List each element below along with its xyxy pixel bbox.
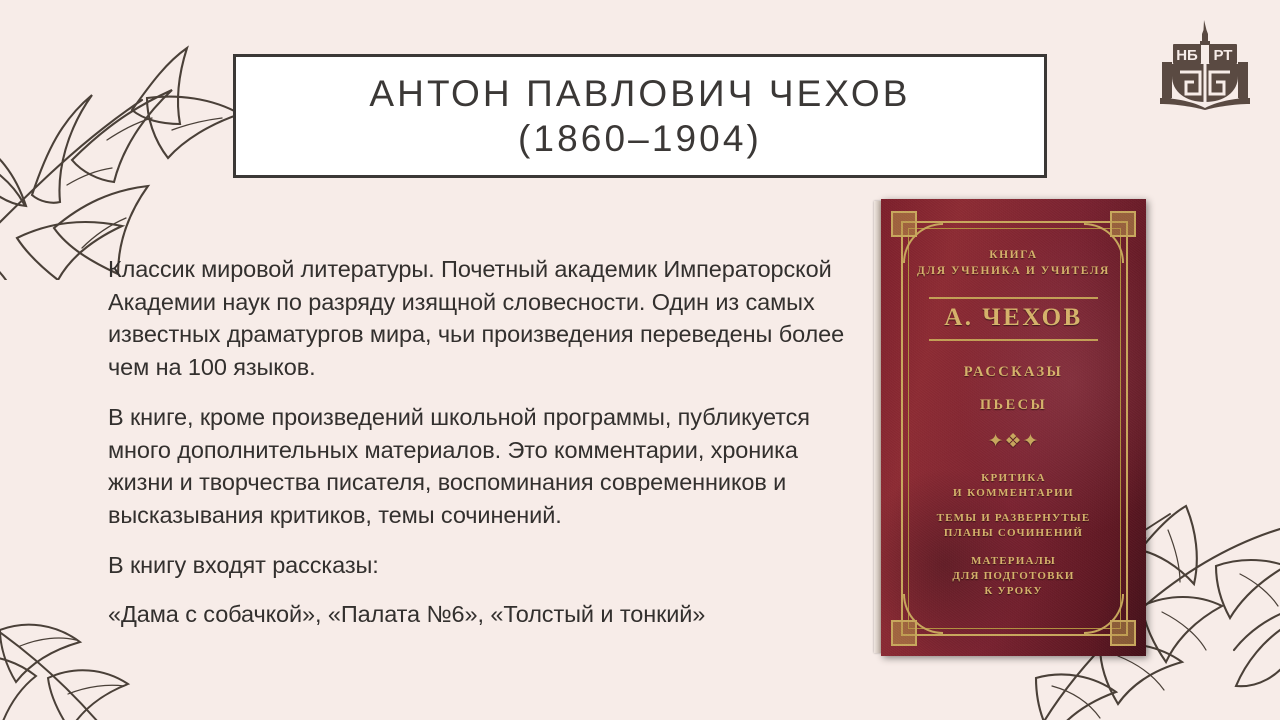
slide: НБ РТ АНТОН ПАВЛОВИЧ ЧЕХОВ (1860–1904) К… — [0, 0, 1280, 720]
cover-corner-square-tr — [1110, 211, 1136, 237]
cover-section-materials: МАТЕРИАЛЫ ДЛЯ ПОДГОТОВКИ К УРОКУ — [881, 554, 1146, 599]
cover-rule-bottom — [929, 339, 1098, 341]
cover-section-criticism-line1: КРИТИКА — [881, 471, 1146, 486]
cover-section-criticism-line2: И КОММЕНТАРИИ — [881, 486, 1146, 501]
cover-section-criticism: КРИТИКА И КОММЕНТАРИИ — [881, 471, 1146, 501]
cover-series-line1: КНИГА — [881, 247, 1146, 263]
page-title: АНТОН ПАВЛОВИЧ ЧЕХОВ (1860–1904) — [233, 54, 1047, 178]
cover-author: А. ЧЕХОВ — [881, 299, 1146, 337]
cover-ornament: ✦❖✦ — [881, 432, 1146, 451]
cover-section-materials-line2: ДЛЯ ПОДГОТОВКИ — [881, 569, 1146, 584]
book-front-cover: КНИГА ДЛЯ УЧЕНИКА И УЧИТЕЛЯ А. ЧЕХОВ РАС… — [881, 199, 1146, 656]
logo-letters-left: НБ — [1176, 47, 1198, 64]
title-line-name: АНТОН ПАВЛОВИЧ ЧЕХОВ — [369, 71, 910, 116]
cover-section-topics-line2: ПЛАНЫ СОЧИНЕНИЙ — [881, 526, 1146, 541]
paragraph-stories-list: «Дама с собачкой», «Палата №6», «Толстый… — [108, 598, 856, 631]
cover-section-topics-line1: ТЕМЫ И РАЗВЕРНУТЫЕ — [881, 511, 1146, 526]
cover-section-topics: ТЕМЫ И РАЗВЕРНУТЫЕ ПЛАНЫ СОЧИНЕНИЙ — [881, 511, 1146, 541]
cover-section-materials-line3: К УРОКУ — [881, 584, 1146, 599]
paragraph-biography: Классик мировой литературы. Почетный ака… — [108, 253, 856, 383]
paragraph-book-contents: В книге, кроме произведений школьной про… — [108, 401, 856, 531]
cover-series-text: КНИГА ДЛЯ УЧЕНИКА И УЧИТЕЛЯ — [881, 247, 1146, 279]
cover-gold-frame-inner — [908, 228, 1121, 629]
cover-corner-square-tl — [891, 211, 917, 237]
cover-series-line2: ДЛЯ УЧЕНИКА И УЧИТЕЛЯ — [881, 263, 1146, 279]
cover-genre-plays: ПЬЕСЫ — [881, 397, 1146, 414]
body-text: Классик мировой литературы. Почетный ака… — [108, 253, 856, 630]
cover-genre-stories: РАССКАЗЫ — [881, 364, 1146, 381]
paragraph-stories-intro: В книгу входят рассказы: — [108, 549, 856, 582]
book-cover-image: КНИГА ДЛЯ УЧЕНИКА И УЧИТЕЛЯ А. ЧЕХОВ РАС… — [874, 199, 1146, 656]
logo-letters-right: РТ — [1214, 47, 1233, 64]
cover-gold-frame — [901, 221, 1128, 636]
library-logo: НБ РТ — [1156, 18, 1254, 110]
cover-corner-arc-tl — [903, 223, 943, 263]
leaf-decoration-top-left — [0, 0, 272, 280]
cover-corner-arc-tr — [1084, 223, 1124, 263]
title-line-dates: (1860–1904) — [518, 116, 762, 161]
cover-corner-square-bl — [891, 620, 917, 646]
cover-rule-top — [929, 297, 1098, 299]
cover-corner-arc-bl — [903, 594, 943, 634]
cover-corner-square-br — [1110, 620, 1136, 646]
cover-section-materials-line1: МАТЕРИАЛЫ — [881, 554, 1146, 569]
cover-corner-arc-br — [1084, 594, 1124, 634]
